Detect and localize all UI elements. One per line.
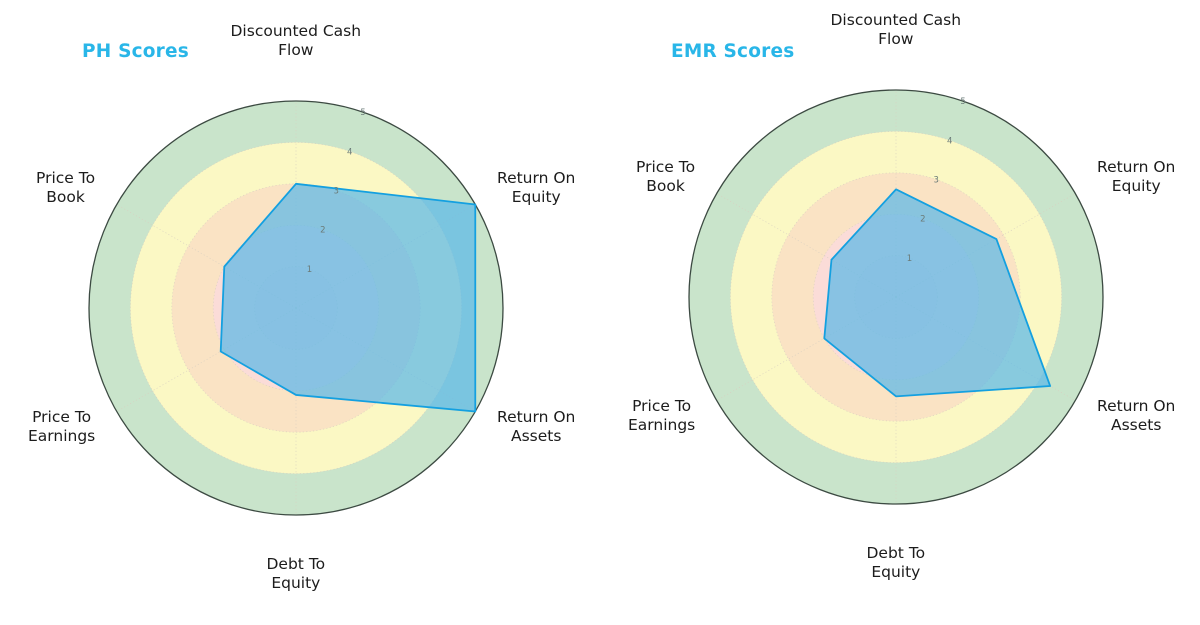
radial-tick-1: 1	[907, 254, 912, 264]
axis-label-ph-2: Return On Assets	[497, 408, 575, 447]
axis-label-emr-2: Return On Assets	[1097, 397, 1175, 436]
axis-label-ph-0: Discounted Cash Flow	[231, 22, 362, 61]
axis-label-ph-1: Return On Equity	[497, 169, 575, 208]
axis-label-ph-5: Price To Book	[36, 169, 95, 208]
radial-tick-5: 5	[360, 108, 365, 118]
axis-label-emr-0: Discounted Cash Flow	[831, 11, 962, 50]
radial-tick-3: 3	[933, 176, 938, 186]
axis-label-emr-3: Debt To Equity	[867, 544, 926, 583]
radial-tick-4: 4	[347, 147, 352, 157]
radar-panel-emr: EMR Scores 12345 Discounted Cash FlowRet…	[600, 0, 1200, 625]
axis-label-ph-3: Debt To Equity	[267, 555, 326, 594]
axis-label-ph-4: Price To Earnings	[28, 408, 95, 447]
radial-tick-4: 4	[947, 136, 952, 146]
radial-tick-2: 2	[320, 226, 325, 236]
radial-tick-3: 3	[333, 187, 338, 197]
figure-canvas: PH Scores 12345 Discounted Cash FlowRetu…	[0, 0, 1200, 625]
axis-label-emr-1: Return On Equity	[1097, 158, 1175, 197]
axis-label-emr-4: Price To Earnings	[628, 397, 695, 436]
radar-chart-ph: 12345	[0, 0, 600, 625]
radial-tick-2: 2	[920, 215, 925, 225]
radar-chart-emr: 12345	[600, 0, 1200, 625]
radial-tick-1: 1	[307, 265, 312, 275]
axis-label-emr-5: Price To Book	[636, 158, 695, 197]
radar-panel-ph: PH Scores 12345 Discounted Cash FlowRetu…	[0, 0, 600, 625]
radial-tick-5: 5	[960, 97, 965, 107]
